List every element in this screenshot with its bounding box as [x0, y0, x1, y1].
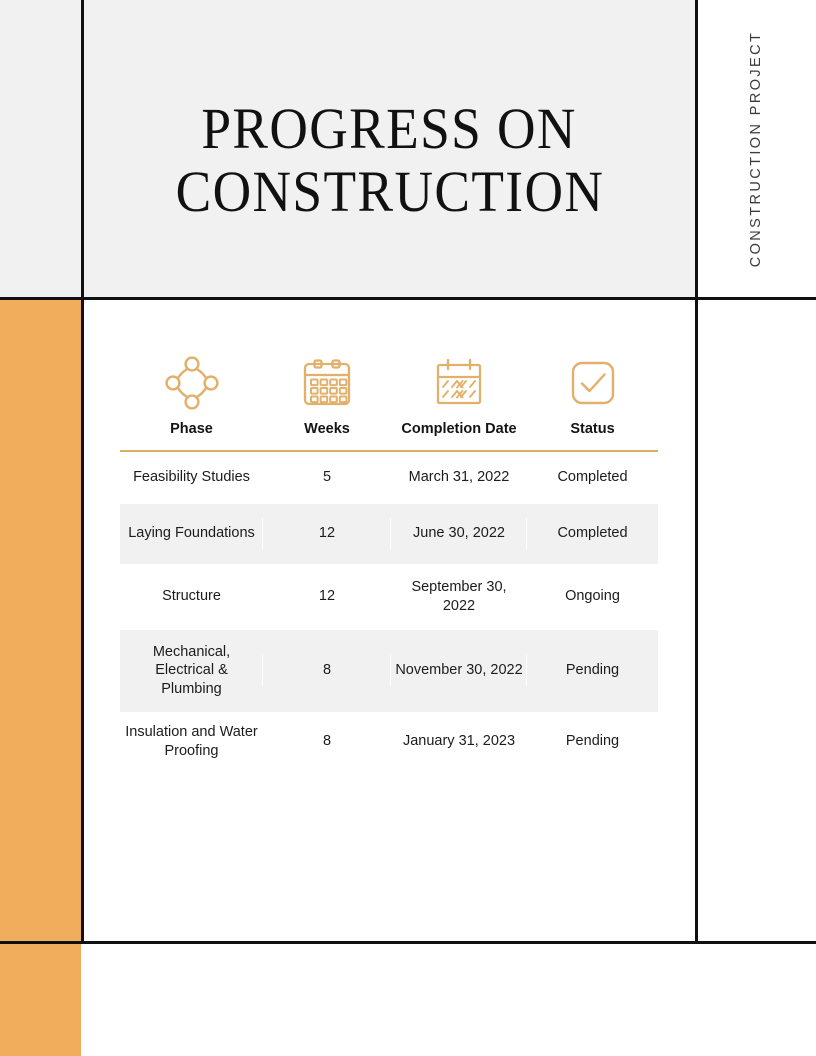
table-row[interactable]: Mechanical, Electrical & Plumbing 8 Nove… [120, 630, 658, 712]
check-square-icon [566, 354, 620, 412]
page-title-line-2: CONSTRUCTION [175, 161, 604, 223]
cell-phase: Structure [120, 581, 263, 612]
cell-weeks: 12 [263, 518, 391, 549]
cell-completion-date: September 30, 2022 [391, 572, 527, 621]
cell-weeks: 12 [263, 581, 391, 612]
table-column-header-phase: Phase [120, 350, 263, 438]
table-column-header-weeks-label: Weeks [304, 421, 350, 438]
cell-phase: Laying Foundations [120, 518, 263, 549]
cell-weeks: 8 [263, 655, 391, 686]
cell-phase: Insulation and Water Proofing [120, 717, 263, 766]
cell-weeks: 8 [263, 726, 391, 757]
cell-status: Completed [527, 518, 658, 549]
page-title-line-1: PROGRESS ON [202, 98, 577, 160]
cell-weeks: 5 [263, 462, 391, 493]
table-row[interactable]: Structure 12 September 30, 2022 Ongoing [120, 564, 658, 630]
table-column-header-weeks: Weeks [263, 350, 391, 438]
cell-status: Ongoing [527, 581, 658, 612]
table-column-header-phase-label: Phase [170, 421, 213, 438]
cell-status: Pending [527, 726, 658, 757]
table-column-header-completion-date-label: Completion Date [401, 421, 516, 438]
table-row[interactable]: Laying Foundations 12 June 30, 2022 Comp… [120, 504, 658, 564]
side-label-text: CONSTRUCTION PROJECT [748, 30, 764, 267]
frame-line-horizontal-bottom [0, 941, 816, 944]
calendar-crossed-days-icon [432, 354, 486, 412]
table-row[interactable]: Feasibility Studies 5 March 31, 2022 Com… [120, 452, 658, 504]
cell-completion-date: June 30, 2022 [391, 518, 527, 549]
progress-table: Phase [120, 350, 658, 772]
cell-completion-date: March 31, 2022 [391, 462, 527, 493]
poster-page: PROGRESS ON CONSTRUCTION CONSTRUCTION PR… [0, 0, 816, 1056]
page-title: PROGRESS ON CONSTRUCTION [84, 0, 695, 297]
cell-status: Pending [527, 655, 658, 686]
frame-line-horizontal-top [0, 297, 816, 300]
cell-completion-date: November 30, 2022 [391, 655, 527, 686]
cell-completion-date: January 31, 2023 [391, 726, 527, 757]
cell-phase: Mechanical, Electrical & Plumbing [120, 637, 263, 705]
nodes-network-icon [164, 354, 220, 412]
table-row[interactable]: Insulation and Water Proofing 8 January … [120, 712, 658, 772]
table-column-header-completion-date: Completion Date [391, 350, 527, 438]
calendar-grid-icon [300, 354, 354, 412]
cell-phase: Feasibility Studies [120, 462, 263, 493]
table-column-header-status: Status [527, 350, 658, 438]
table-column-header-status-label: Status [570, 421, 614, 438]
table-body: Feasibility Studies 5 March 31, 2022 Com… [120, 452, 658, 772]
cell-status: Completed [527, 462, 658, 493]
table-header-row: Phase [120, 350, 658, 438]
side-label: CONSTRUCTION PROJECT [695, 0, 816, 297]
